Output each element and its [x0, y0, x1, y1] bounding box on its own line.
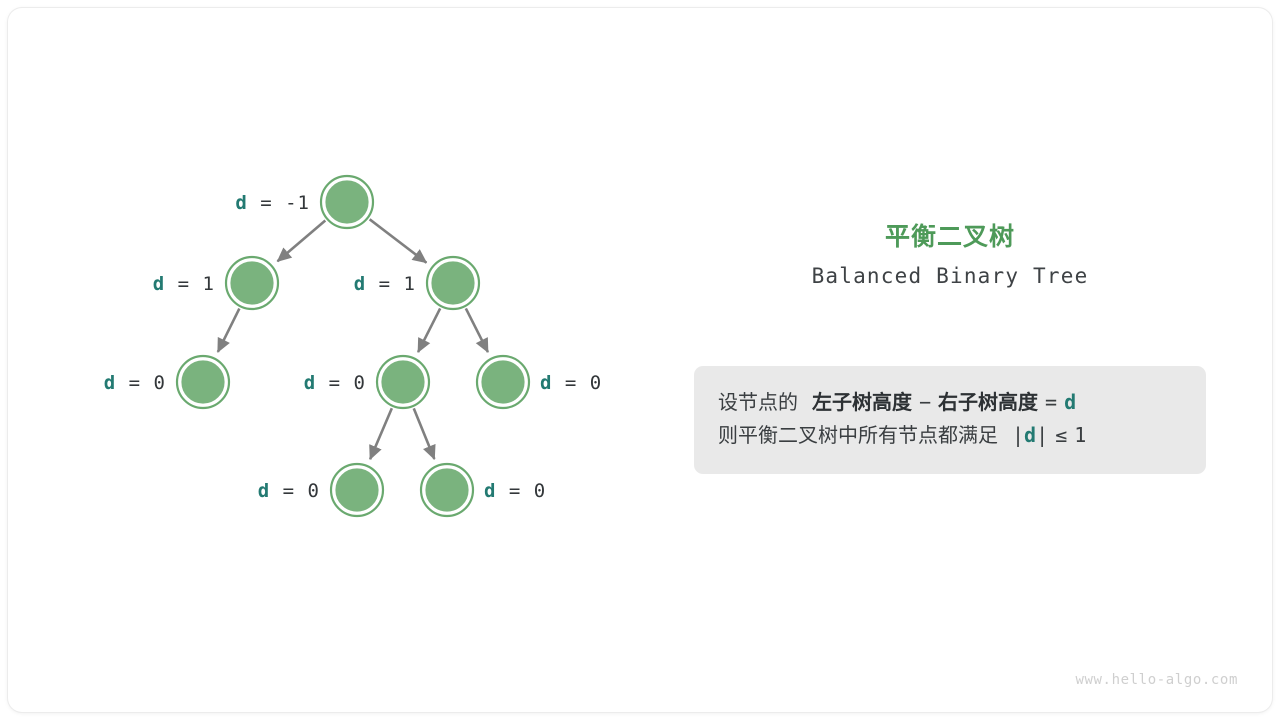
label-value: 1 [404, 273, 416, 295]
label-value: -1 [285, 192, 310, 214]
label-variable: d [304, 372, 316, 394]
label-value: 1 [203, 273, 215, 295]
label-variable: d [540, 372, 552, 394]
node-balance-label: d = 0 [258, 480, 320, 502]
tree-edge [414, 408, 435, 459]
tree-edge [466, 308, 488, 352]
definition-prefix: 设节点的 [718, 390, 798, 414]
node-balance-label: d = 0 [104, 372, 166, 394]
tree-nodes [177, 176, 529, 516]
node-balance-label: d = 1 [354, 273, 416, 295]
equals-operator: = [1045, 390, 1057, 414]
node-balance-label: d = 1 [153, 273, 215, 295]
node-balance-label: d = 0 [540, 372, 602, 394]
label-variable: d [235, 192, 247, 214]
label-value: 0 [308, 480, 320, 502]
node-disc [481, 360, 526, 405]
label-value: 0 [354, 372, 366, 394]
label-operator: = [116, 372, 153, 394]
label-operator: = [248, 192, 285, 214]
label-operator: = [316, 372, 353, 394]
tree-node-labels: d = -1d = 1d = 1d = 0d = 0d = 0d = 0d = … [104, 192, 602, 502]
tree-node[interactable] [477, 356, 529, 408]
node-balance-label: d = 0 [484, 480, 546, 502]
node-disc [425, 468, 470, 513]
label-operator: = [496, 480, 533, 502]
label-value: 0 [590, 372, 602, 394]
label-value: 0 [534, 480, 546, 502]
label-operator: = [270, 480, 307, 502]
node-disc [325, 180, 370, 225]
node-disc [381, 360, 426, 405]
label-operator: = [165, 273, 202, 295]
label-value: 0 [154, 372, 166, 394]
label-variable: d [258, 480, 270, 502]
node-disc [335, 468, 380, 513]
definition-line-2: 则平衡二叉树中所有节点都满足|d|≤1 [718, 419, 1182, 452]
label-operator: = [366, 273, 403, 295]
term-right-subtree-height: 右子树高度 [938, 390, 1038, 414]
tree-edge [277, 220, 325, 261]
node-disc [181, 360, 226, 405]
variable-d: d [1024, 423, 1036, 447]
screenshot-canvas: d = -1d = 1d = 1d = 0d = 0d = 0d = 0d = … [0, 0, 1280, 720]
info-panel: 平衡二叉树 Balanced Binary Tree [694, 220, 1206, 290]
tree-node[interactable] [377, 356, 429, 408]
definition-box: 设节点的左子树高度−右子树高度=d 则平衡二叉树中所有节点都满足|d|≤1 [694, 366, 1206, 474]
tree-edge [218, 309, 239, 352]
tree-edges [218, 219, 488, 459]
label-variable: d [354, 273, 366, 295]
label-variable: d [104, 372, 116, 394]
relation-operator: ≤ [1055, 423, 1067, 447]
node-balance-label: d = -1 [235, 192, 310, 214]
abs-bar-open: | [1012, 423, 1024, 447]
node-balance-label: d = 0 [304, 372, 366, 394]
minus-operator: − [919, 390, 931, 414]
tree-node[interactable] [226, 257, 278, 309]
tree-node[interactable] [321, 176, 373, 228]
definition-condition-prefix: 则平衡二叉树中所有节点都满足 [718, 423, 998, 447]
bound-value: 1 [1074, 423, 1086, 447]
tree-node[interactable] [421, 464, 473, 516]
abs-bar-close: | [1036, 423, 1048, 447]
term-left-subtree-height: 左子树高度 [812, 390, 912, 414]
tree-edge [370, 408, 392, 459]
node-disc [431, 261, 476, 306]
tree-node[interactable] [427, 257, 479, 309]
variable-d: d [1064, 390, 1076, 414]
tree-node[interactable] [331, 464, 383, 516]
binary-tree-diagram: d = -1d = 1d = 1d = 0d = 0d = 0d = 0d = … [0, 0, 660, 720]
tree-node[interactable] [177, 356, 229, 408]
label-operator: = [552, 372, 589, 394]
label-variable: d [484, 480, 496, 502]
tree-edge [418, 308, 440, 352]
watermark: www.hello-algo.com [1075, 672, 1238, 688]
page-title: 平衡二叉树 [694, 220, 1206, 254]
definition-line-1: 设节点的左子树高度−右子树高度=d [718, 386, 1182, 419]
tree-edge [370, 219, 427, 262]
node-disc [230, 261, 275, 306]
page-subtitle: Balanced Binary Tree [694, 262, 1206, 290]
label-variable: d [153, 273, 165, 295]
